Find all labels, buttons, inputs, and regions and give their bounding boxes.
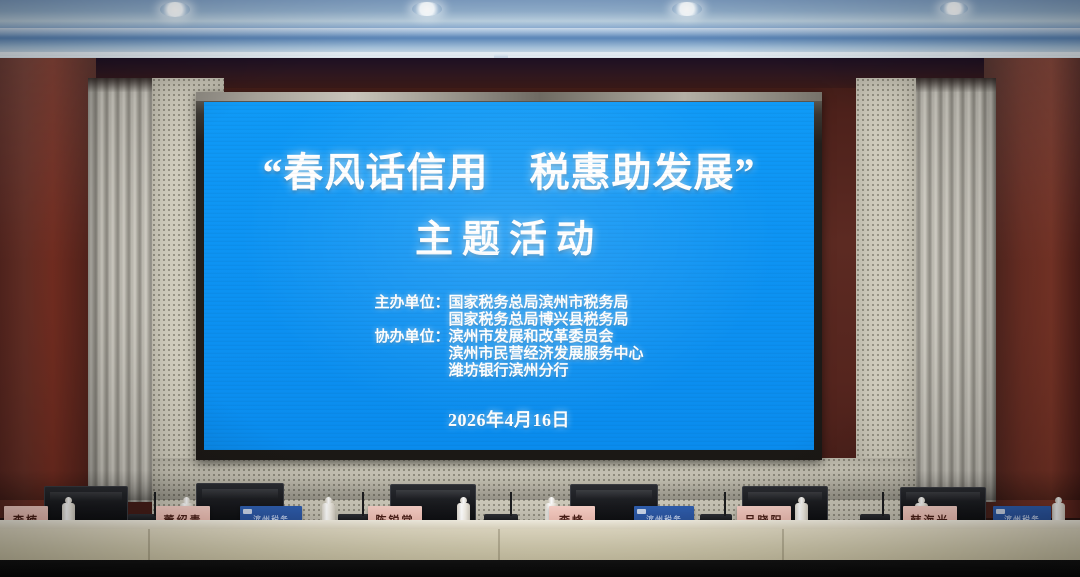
microphone-stem — [510, 492, 512, 516]
downlight-icon — [160, 2, 190, 17]
ceiling — [0, 0, 1080, 62]
organizer-value: 国家税务总局滨州市税务局 — [448, 295, 628, 312]
screen-top-trim — [196, 92, 822, 101]
microphone-stem — [724, 492, 726, 516]
organizer-value: 滨州市民营经济发展服务中心 — [448, 346, 643, 363]
led-screen: “春风话信用 税惠助发展” 主题活动 主办单位：国家税务总局滨州市税务局 国家税… — [204, 102, 814, 450]
organizer-value: 潍坊银行滨州分行 — [448, 363, 568, 380]
organizer-row: 滨州市民营经济发展服务中心 — [374, 346, 643, 363]
organizer-row: 潍坊银行滨州分行 — [374, 363, 568, 380]
downlight-icon — [940, 2, 968, 15]
placard-logo-icon — [996, 509, 1005, 514]
placard-logo-icon — [243, 509, 252, 514]
microphone-stem — [362, 492, 364, 516]
slide-date: 2026年4月16日 — [448, 406, 570, 432]
organizer-row: 协办单位：滨州市发展和改革委员会 — [374, 329, 613, 346]
table-edge — [0, 520, 1080, 529]
downlight-icon — [412, 2, 442, 16]
led-screen-frame: “春风话信用 税惠助发展” 主题活动 主办单位：国家税务总局滨州市税务局 国家税… — [196, 92, 822, 460]
organizer-value: 国家税务总局博兴县税务局 — [448, 312, 628, 329]
organizer-row: 国家税务总局博兴县税务局 — [374, 312, 628, 329]
slide-title-line2: 主题活动 — [415, 208, 603, 263]
wood-column-right — [984, 58, 1080, 518]
column-sheen — [984, 58, 1080, 518]
organizer-label: 协办单位： — [374, 329, 448, 346]
microphone-stem — [882, 492, 884, 516]
downlight-icon — [672, 2, 702, 16]
organizer-label: 主办单位： — [374, 295, 448, 312]
organizer-block: 主办单位：国家税务总局滨州市税务局 国家税务总局博兴县税务局协办单位：滨州市发展… — [374, 295, 643, 380]
presentation-slide: “春风话信用 税惠助发展” 主题活动 主办单位：国家税务总局滨州市税务局 国家税… — [204, 102, 814, 450]
conference-room-photo: “春风话信用 税惠助发展” 主题活动 主办单位：国家税务总局滨州市税务局 国家税… — [0, 0, 1080, 577]
placard-logo-icon — [637, 509, 646, 514]
front-row-desk — [0, 560, 1080, 577]
slide-title-line1: “春风话信用 税惠助发展” — [263, 140, 756, 198]
column-sheen — [0, 58, 96, 518]
acoustic-panel-right — [856, 78, 916, 502]
wood-column-left — [0, 58, 96, 518]
ceiling-band — [0, 28, 1080, 37]
organizer-row: 主办单位：国家税务总局滨州市税务局 — [374, 295, 628, 312]
organizer-value: 滨州市发展和改革委员会 — [448, 329, 613, 346]
